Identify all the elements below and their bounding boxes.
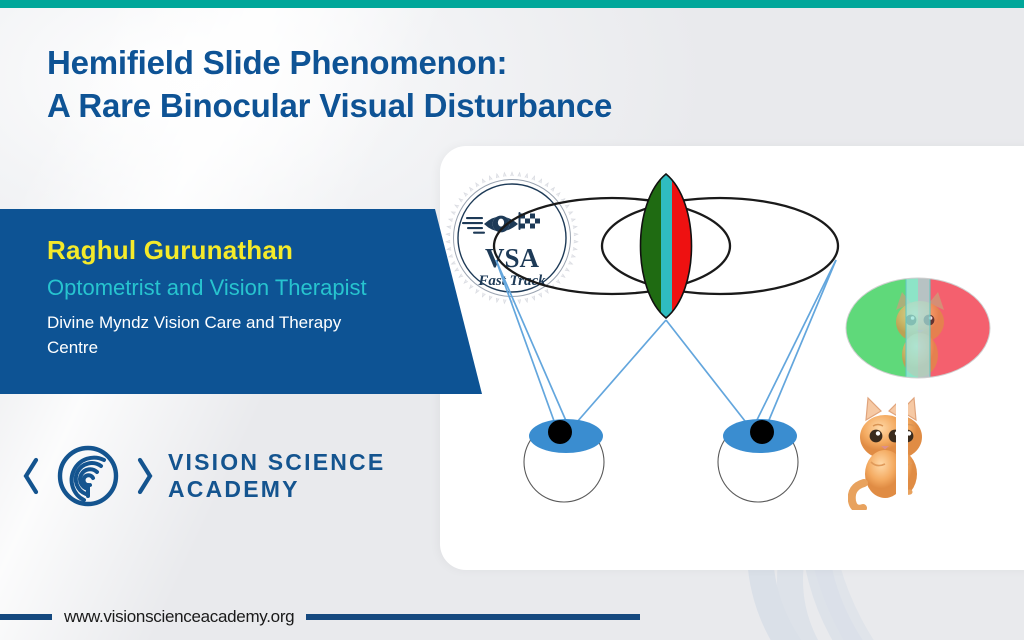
right-eye-pupil bbox=[750, 420, 774, 444]
bracket-right-icon bbox=[140, 460, 150, 492]
top-accent-bar bbox=[0, 0, 1024, 8]
footer-url[interactable]: www.visionscienceacademy.org bbox=[52, 607, 306, 627]
bracket-left-icon bbox=[26, 460, 36, 492]
cat-left-half bbox=[852, 398, 910, 509]
footer: www.visionscienceacademy.org bbox=[0, 600, 640, 634]
right-visual-field-ellipse bbox=[602, 198, 838, 294]
footer-rule-left bbox=[0, 614, 52, 620]
wordmark-line-1: VISION SCIENCE bbox=[168, 449, 385, 476]
speaker-banner: Raghul Gurunathan Optometrist and Vision… bbox=[0, 209, 482, 394]
title-line-1: Hemifield Slide Phenomenon: bbox=[47, 41, 807, 84]
title-line-2: A Rare Binocular Visual Disturbance bbox=[47, 84, 807, 127]
vsa-wordmark: VISION SCIENCE ACADEMY bbox=[168, 449, 385, 503]
binocular-percept-cat-tinted-ellipse bbox=[846, 278, 990, 378]
speaker-name: Raghul Gurunathan bbox=[47, 235, 293, 266]
speaker-organization: Divine Myndz Vision Care and Therapy Cen… bbox=[47, 311, 387, 360]
wordmark-line-2: ACADEMY bbox=[168, 476, 385, 503]
left-eye-pupil bbox=[548, 420, 572, 444]
vision-science-academy-logo: VISION SCIENCE ACADEMY bbox=[22, 438, 422, 514]
footer-rule-right bbox=[306, 614, 640, 620]
hemifield-slide-split-cat bbox=[852, 398, 922, 509]
vsa-spiral-eye-mark-icon bbox=[22, 440, 154, 512]
binocular-overlap-region bbox=[622, 164, 718, 334]
page-title: Hemifield Slide Phenomenon: A Rare Binoc… bbox=[47, 41, 807, 127]
hemifield-slide-diagram bbox=[452, 150, 1024, 560]
left-visual-field-ellipse bbox=[494, 198, 730, 294]
speaker-role: Optometrist and Vision Therapist bbox=[47, 275, 367, 301]
presentation-slide: Hemifield Slide Phenomenon: A Rare Binoc… bbox=[0, 0, 1024, 640]
left-eye bbox=[524, 419, 604, 502]
right-eye bbox=[718, 419, 798, 502]
